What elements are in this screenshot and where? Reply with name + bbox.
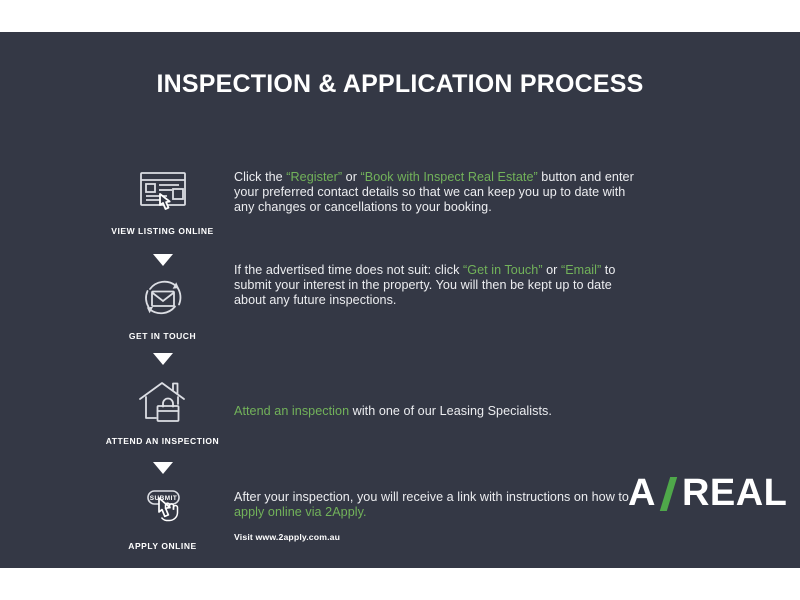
- house-calendar-icon: [90, 377, 235, 429]
- step-arrow-3-icon: [90, 461, 235, 479]
- step-3-text-part-0: Attend an inspection: [234, 404, 349, 418]
- step-3-text-part-1: with one of our Leasing Specialists.: [349, 404, 552, 418]
- step-4-text-part-0: After your inspection, you will receive …: [234, 490, 629, 504]
- step-1-text-part-3: “Book with Inspect Real Estate”: [361, 170, 538, 184]
- step-2-text-part-1: “Get in Touch”: [463, 263, 543, 277]
- step-arrow-2-icon: [90, 352, 235, 370]
- step-2-description: If the advertised time does not suit: cl…: [234, 263, 634, 309]
- step-1-text-part-2: or: [342, 170, 360, 184]
- step-3-description: Attend an inspection with one of our Lea…: [234, 404, 634, 419]
- step-2-text-part-2: or: [543, 263, 561, 277]
- brand-logo: A REAL: [628, 472, 787, 515]
- step-2-text-part-0: If the advertised time does not suit: cl…: [234, 263, 463, 277]
- step-2-text-part-3: “Email”: [561, 263, 601, 277]
- step-3-label: ATTEND AN INSPECTION: [90, 436, 235, 446]
- step-1-text-part-0: Click the: [234, 170, 286, 184]
- step-1-text-part-1: “Register”: [286, 170, 342, 184]
- step-4-text-part-1: apply online via 2Apply.: [234, 505, 367, 519]
- logo-text-second: REAL: [682, 472, 787, 515]
- step-3-icon-column: ATTEND AN INSPECTION: [90, 377, 235, 446]
- slide-canvas: INSPECTION & APPLICATION PROCESS: [0, 32, 800, 568]
- step-arrow-1-icon: [90, 253, 235, 271]
- logo-text-first: A: [628, 472, 656, 515]
- step-1-label: VIEW LISTING ONLINE: [90, 226, 235, 236]
- step-4-description: After your inspection, you will receive …: [234, 490, 634, 543]
- step-1-icon-column: VIEW LISTING ONLINE: [90, 167, 235, 236]
- step-4-icon-column: SUBMIT APPLY ONLINE: [90, 482, 235, 551]
- forward-slash-icon: [656, 475, 682, 513]
- step-1-description: Click the “Register” or “Book with Inspe…: [234, 170, 634, 216]
- envelope-refresh-icon: [90, 272, 235, 324]
- step-2-label: GET IN TOUCH: [90, 331, 235, 341]
- page-title: INSPECTION & APPLICATION PROCESS: [0, 70, 800, 99]
- step-4-label: APPLY ONLINE: [90, 541, 235, 551]
- submit-button-cursor-icon: SUBMIT: [90, 482, 235, 534]
- step-4-sub-note: Visit www.2apply.com.au: [234, 532, 634, 543]
- step-2-icon-column: GET IN TOUCH: [90, 272, 235, 341]
- listing-window-cursor-icon: [90, 167, 235, 219]
